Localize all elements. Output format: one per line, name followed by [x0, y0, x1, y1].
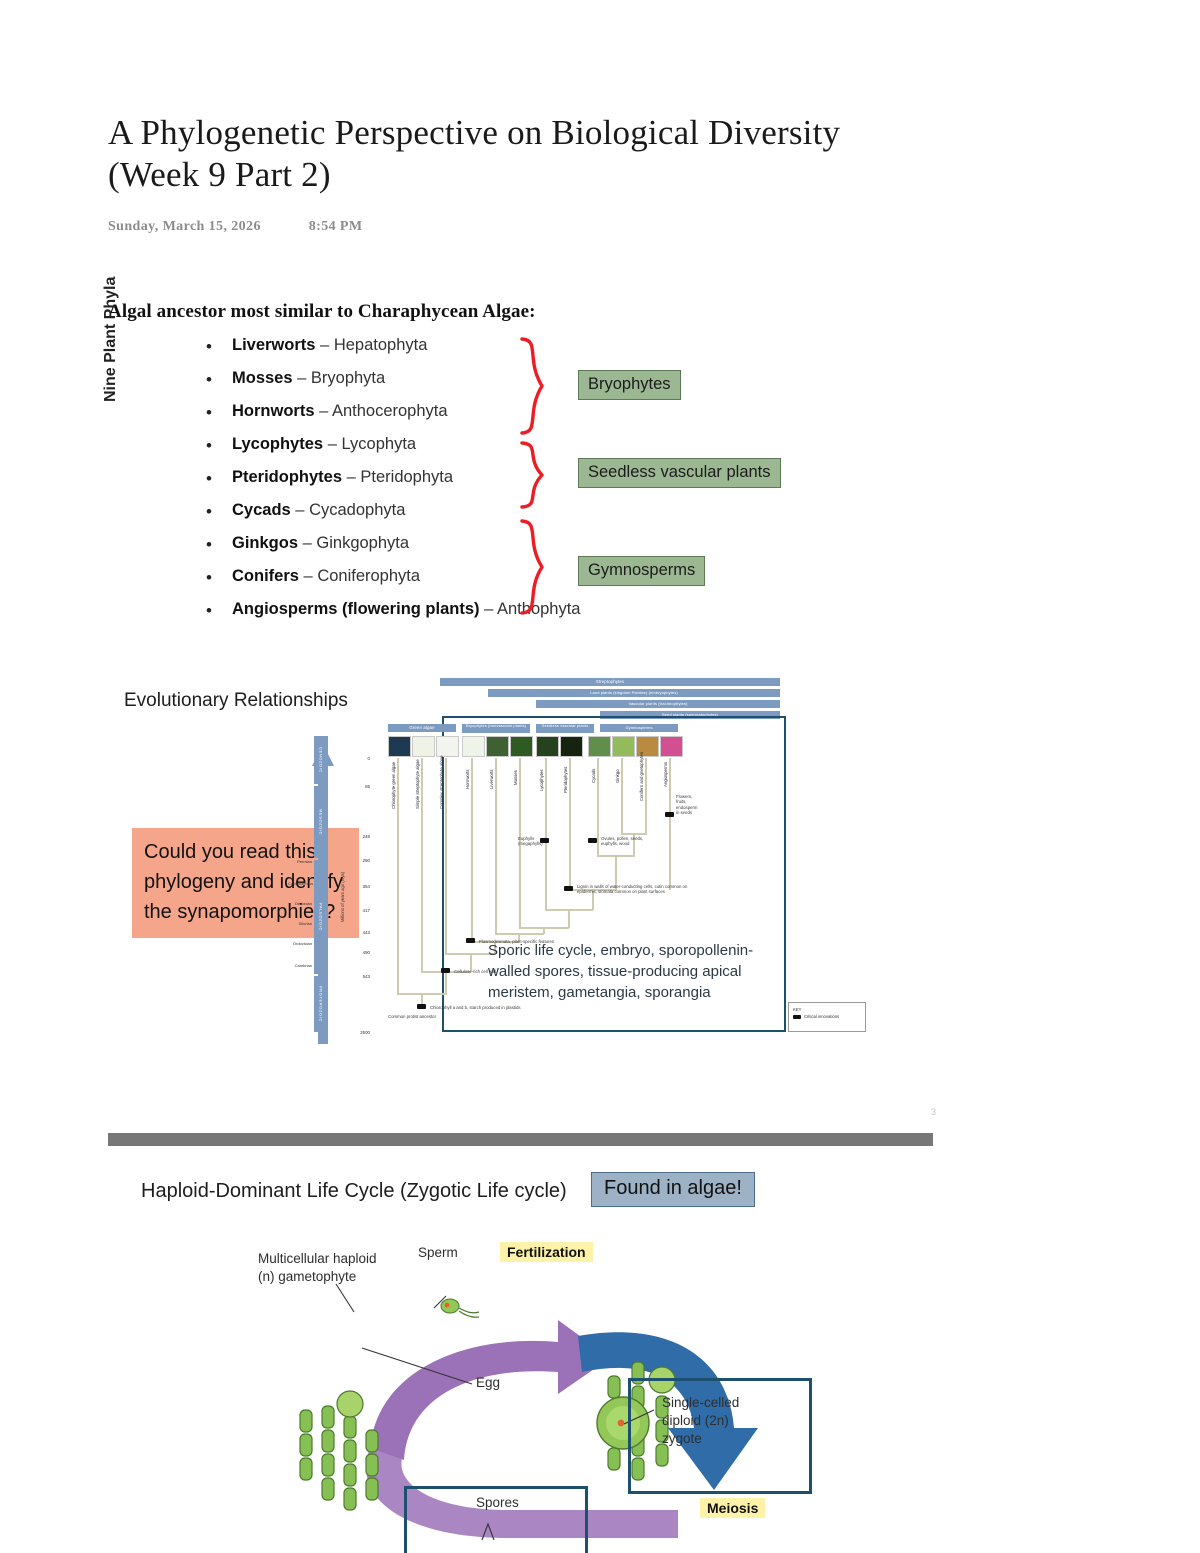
- phylum-common-name: Cycads: [232, 501, 291, 519]
- group-label-gymnosperms: Gymnosperms: [578, 556, 705, 586]
- figure-key: KEY Critical innovations: [788, 1002, 866, 1032]
- phylum-name: Pteridophyta: [360, 468, 453, 486]
- dash: –: [319, 402, 328, 420]
- axis-tick: 443: [350, 930, 370, 935]
- list-item: •Angiosperms (flowering plants) – Anthop…: [206, 600, 766, 633]
- tip-label-ginkgo: Ginkgo: [615, 769, 620, 783]
- innovation-note-flowers: Flowers, fruits, endosperm in seeds: [676, 794, 702, 816]
- dash: –: [304, 567, 313, 585]
- tip-label-conifers: Conifers and gnetophytes: [639, 752, 644, 801]
- tip-label-lycophytes: Lycophytes: [539, 769, 544, 791]
- phylum-common-name: Ginkgos: [232, 534, 298, 552]
- branch-line: [621, 758, 623, 834]
- tip-label-mosses: Mosses: [513, 770, 518, 785]
- dash: –: [297, 369, 306, 387]
- bullet-icon: •: [206, 502, 212, 522]
- axis-tick: 417: [350, 908, 370, 913]
- clade-bar-vascular-plants: Vascular plants (tracheophytes): [536, 700, 780, 708]
- brace-seedless-vascular-icon: [516, 440, 556, 510]
- life-cycle-diagram: Multicellular haploid (n) gametophyte Sp…: [258, 1238, 818, 1538]
- thumbnail-cycads-icon: [588, 736, 611, 757]
- thumbnail-simple-streptophyte-icon: [412, 736, 435, 757]
- slide1-title: Evolutionary Relationships: [124, 690, 348, 712]
- innovation-note-euphylls: Euphylls (megaphylls): [518, 836, 558, 847]
- root-label: Common protist ancestor: [388, 1014, 478, 1019]
- group-bar-seedless-vascular: Seedless vascular plants: [536, 724, 594, 733]
- branch-line: [545, 758, 547, 910]
- branch-join: [568, 909, 570, 928]
- dash: –: [295, 501, 304, 519]
- innovation-marker-lignin: [564, 886, 573, 891]
- label-spores: Spores: [476, 1494, 519, 1512]
- tip-label-cycads: Cycads: [591, 769, 596, 783]
- axis-tick: 490: [350, 950, 370, 955]
- label-zygote-line1: Single-celled: [662, 1395, 739, 1410]
- key-item-label: Critical innovations: [804, 1013, 839, 1020]
- thumbnail-pteridophytes-icon: [560, 736, 583, 757]
- slide-page-number: 3: [931, 1107, 936, 1117]
- label-gametophyte: Multicellular haploid (n) gametophyte: [258, 1250, 377, 1286]
- thumbnail-complex-streptophyte-icon: [436, 736, 459, 757]
- brace-bryophytes-icon: [516, 336, 556, 436]
- label-sperm: Sperm: [418, 1244, 458, 1262]
- label-zygote-line2: diploid (2n): [662, 1413, 729, 1428]
- thumbnail-angiosperms-icon: [660, 736, 683, 757]
- bullet-icon: •: [206, 370, 212, 390]
- branch-line: [445, 758, 447, 954]
- vertical-axis-label: Nine Plant Phyla: [102, 242, 120, 402]
- tip-label-complex-streptophyte: Complex streptophyte algae: [439, 755, 444, 809]
- group-label-seedless-vascular: Seedless vascular plants: [578, 458, 781, 488]
- branch-line: [397, 758, 399, 994]
- axis-tick: 65: [350, 784, 370, 789]
- list-item: •Hornworts – Anthocerophyta: [206, 402, 766, 435]
- bullet-icon: •: [206, 568, 212, 588]
- tip-label-liverworts: Liverworts: [489, 769, 494, 789]
- tip-label-chlorophyte: Chlorophyte green algae: [391, 762, 396, 809]
- label-zygote-line3: zygote: [662, 1431, 702, 1446]
- page-title: A Phylogenetic Perspective on Biological…: [108, 112, 1008, 196]
- phylum-name: Anthocerophyta: [332, 402, 448, 420]
- label-meiosis: Meiosis: [700, 1498, 765, 1518]
- period-silurian: Silurian: [288, 922, 312, 927]
- innovation-marker-flowers: [665, 812, 674, 817]
- tip-label-pteridophytes: Pteridophytes: [563, 767, 568, 793]
- phylogeny-figure: Streptophytes Land plants (kingdom Plant…: [384, 672, 960, 1080]
- innovation-note-chlorophyll: Chlorophyll a and b, starch produced in …: [430, 1005, 550, 1010]
- period-cambrian: Cambrian: [288, 964, 312, 969]
- period-ordovician: Ordovician: [288, 942, 312, 947]
- period-permian: Permian: [288, 860, 312, 865]
- list-item: •Cycads – Cycadophyta: [206, 501, 766, 534]
- key-marker-icon: [793, 1015, 801, 1019]
- label-fertilization: Fertilization: [500, 1242, 593, 1262]
- dash: –: [328, 435, 337, 453]
- bullet-icon: •: [206, 436, 212, 456]
- phylum-common-name: Conifers: [232, 567, 299, 585]
- phylum-common-name: Liverworts: [232, 336, 315, 354]
- phylum-common-name: Angiosperms (flowering plants): [232, 600, 480, 618]
- document-timestamp: Sunday, March 15, 2026 8:54 PM: [108, 219, 363, 235]
- document-date: Sunday, March 15, 2026: [108, 219, 261, 234]
- time-axis-title: Millions of years ago (mya): [340, 872, 345, 922]
- period-carboniferous: Carboniferous: [288, 882, 312, 887]
- dash: –: [347, 468, 356, 486]
- page-title-line1: A Phylogenetic Perspective on Biological…: [108, 112, 1008, 154]
- tip-label-angiosperms: Angiosperms: [663, 762, 668, 787]
- group-bar-green-algae: Green algae: [388, 724, 456, 732]
- phylum-common-name: Hornworts: [232, 402, 315, 420]
- axis-tick: 2500: [348, 1030, 370, 1035]
- phylum-name: Lycophyta: [341, 435, 416, 453]
- thumbnail-mosses-icon: [510, 736, 533, 757]
- innovation-marker-plasmodesmata: [466, 938, 475, 943]
- geologic-time-scale: CENOZOIC MESOZOIC PALEOZOIC PROTEROZOIC …: [306, 712, 384, 1032]
- thumbnail-lycophytes-icon: [536, 736, 559, 757]
- axis-tick: 543: [350, 974, 370, 979]
- era-paleozoic: PALEOZOIC: [314, 860, 328, 974]
- phylum-name: Bryophyta: [311, 369, 385, 387]
- era-mesozoic: MESOZOIC: [314, 786, 328, 858]
- group-label-bryophytes: Bryophytes: [578, 370, 681, 400]
- axis-tick: 248: [350, 834, 370, 839]
- branch-line: [669, 758, 671, 890]
- phylum-common-name: Pteridophytes: [232, 468, 342, 486]
- innovation-marker-ovules: [588, 838, 597, 843]
- spores-illustration: [468, 1514, 508, 1553]
- brace-gymnosperms-icon: [516, 518, 556, 616]
- group-bar-bryophytes: Bryophytes (nonvascular plants): [462, 724, 530, 733]
- branch-line: [645, 758, 647, 834]
- clade-bar-streptophytes: Streptophytes: [440, 678, 780, 686]
- thumbnail-ginkgo-icon: [612, 736, 635, 757]
- dash: –: [320, 336, 329, 354]
- innovation-marker-chlorophyll: [417, 1004, 426, 1009]
- slide2-title: Haploid-Dominant Life Cycle (Zygotic Lif…: [141, 1180, 567, 1203]
- axis-tick: 354: [350, 884, 370, 889]
- branch-line: [597, 758, 599, 856]
- branch-line: [495, 758, 497, 934]
- phylum-name: Ginkgophyta: [316, 534, 409, 552]
- slide-evolutionary-relationships: Evolutionary Relationships Could you rea…: [108, 660, 960, 1130]
- bullet-icon: •: [206, 535, 212, 555]
- label-gametophyte-line2: (n) gametophyte: [258, 1269, 356, 1284]
- innovation-note-ovules: Ovules, pollen, seeds, euphylls, wood: [601, 836, 649, 847]
- bullet-icon: •: [206, 469, 212, 489]
- era-cenozoic: CENOZOIC: [314, 736, 328, 784]
- axis-tick: 290: [350, 858, 370, 863]
- branch-line: [421, 758, 423, 972]
- page-title-line2: (Week 9 Part 2): [108, 154, 1008, 196]
- thumbnail-liverworts-icon: [486, 736, 509, 757]
- found-in-algae-tag: Found in algae!: [591, 1172, 755, 1207]
- innovation-marker-cellulose: [441, 968, 450, 973]
- period-devonian: Devonian: [288, 902, 312, 907]
- document-time: 8:54 PM: [309, 219, 363, 234]
- bullet-icon: •: [206, 337, 212, 357]
- tip-label-simple-streptophyte: Simple streptophyte algae: [415, 759, 420, 809]
- phylum-name: Hepatophyta: [334, 336, 428, 354]
- thumbnail-hornworts-icon: [462, 736, 485, 757]
- document-page: A Phylogenetic Perspective on Biological…: [0, 0, 1200, 1553]
- branch-join: [445, 971, 447, 993]
- label-egg: Egg: [476, 1374, 500, 1392]
- list-item: •Mosses – Bryophyta: [206, 369, 766, 402]
- list-item: •Liverworts – Hepatophyta: [206, 336, 766, 369]
- bullet-icon: •: [206, 601, 212, 621]
- innovation-note-lignin: Lignin in walls of water-conducting cell…: [577, 884, 689, 895]
- branch-line: [471, 758, 473, 942]
- tip-label-hornworts: Hornworts: [465, 769, 470, 789]
- dash: –: [484, 600, 493, 618]
- synapomorphies-annotation: Sporic life cycle, embryo, sporopollenin…: [488, 940, 788, 1003]
- era-proterozoic: PROTEROZOIC: [314, 976, 328, 1032]
- phylum-common-name: Mosses: [232, 369, 293, 387]
- bullet-icon: •: [206, 403, 212, 423]
- dash: –: [303, 534, 312, 552]
- branch-line: [569, 758, 571, 890]
- label-gametophyte-line1: Multicellular haploid: [258, 1251, 377, 1266]
- thumbnail-chlorophyte-icon: [388, 736, 411, 757]
- slide-haploid-dominant-life-cycle: Haploid-Dominant Life Cycle (Zygotic Lif…: [108, 1150, 960, 1553]
- phylum-common-name: Lycophytes: [232, 435, 323, 453]
- nine-plant-phyla-block: Nine Plant Phyla •Liverworts – Hepatophy…: [108, 332, 868, 637]
- phylum-name: Cycadophyta: [309, 501, 405, 519]
- phylum-name: Coniferophyta: [317, 567, 420, 585]
- section-divider: [108, 1133, 933, 1146]
- key-title: KEY: [793, 1006, 861, 1013]
- group-bar-gymnosperms: Gymnosperms: [600, 724, 678, 732]
- label-zygote: Single-celled diploid (2n) zygote: [662, 1394, 739, 1448]
- axis-tick: 0: [350, 756, 370, 761]
- section-heading: Algal ancestor most similar to Charaphyc…: [108, 301, 536, 323]
- clade-bar-land-plants: Land plants (kingdom Plantae) (embryophy…: [488, 689, 780, 697]
